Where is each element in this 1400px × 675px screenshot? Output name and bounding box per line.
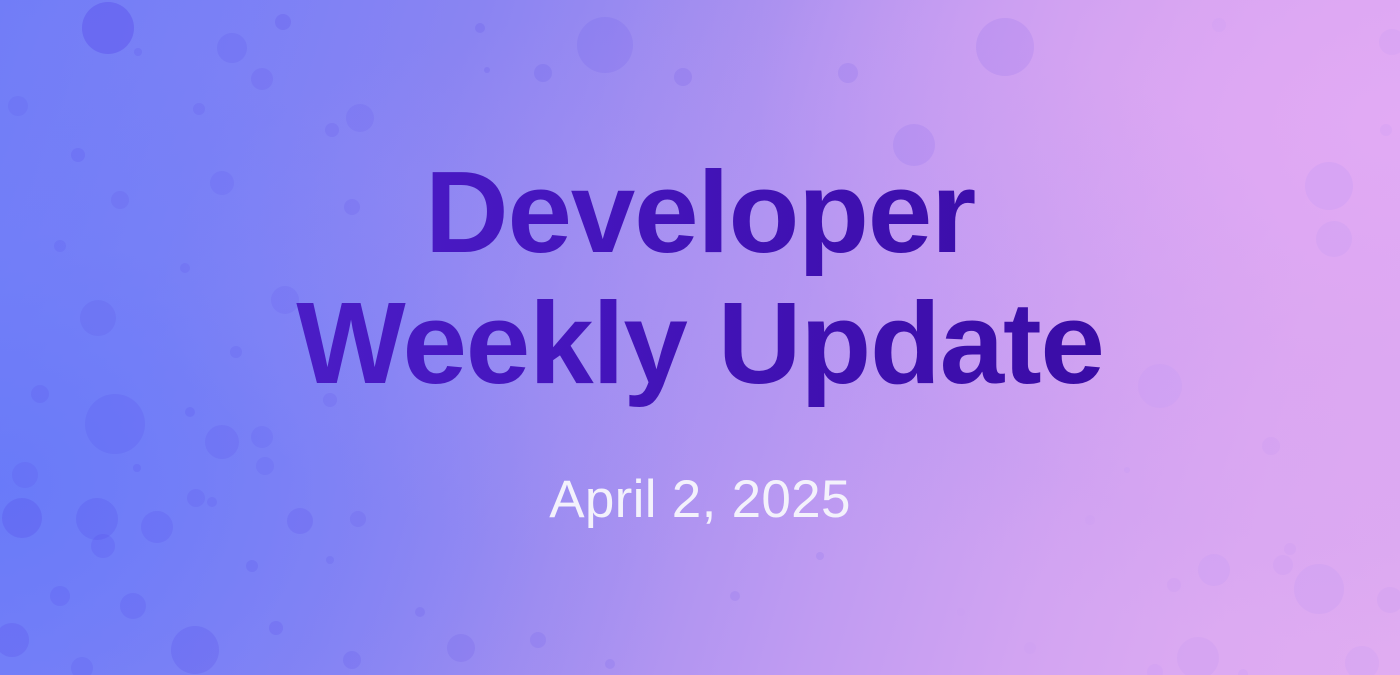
banner-content: Developer Weekly Update April 2, 2025	[0, 0, 1400, 675]
page-title: Developer Weekly Update	[296, 147, 1103, 409]
developer-weekly-update-banner: Developer Weekly Update April 2, 2025	[0, 0, 1400, 675]
page-title-line-2: Weekly Update	[296, 278, 1103, 409]
page-subtitle-date: April 2, 2025	[549, 409, 850, 529]
page-title-line-1: Developer	[296, 147, 1103, 278]
